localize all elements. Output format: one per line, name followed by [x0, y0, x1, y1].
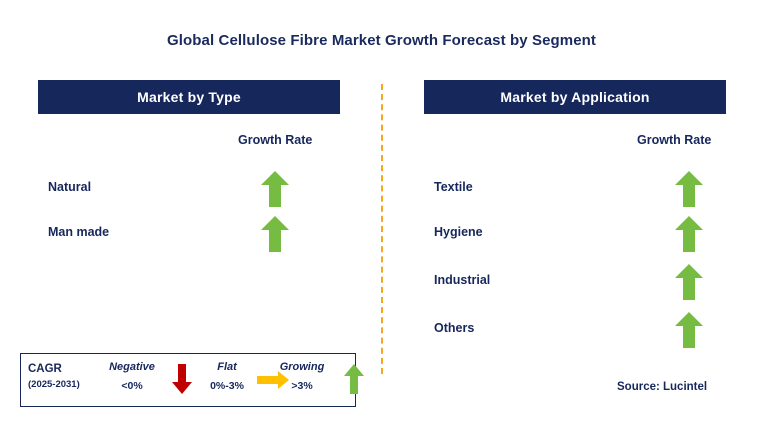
- infographic-canvas: Global Cellulose Fibre Market Growth For…: [0, 0, 763, 430]
- growth-rate-column-label-left: Growth Rate: [238, 133, 312, 147]
- up-arrow-icon: [674, 263, 704, 301]
- source-note: Source: Lucintel: [617, 381, 707, 393]
- legend-item-growing: Growing >3%: [269, 361, 335, 392]
- legend-cagr-label: CAGR (2025-2031): [28, 363, 96, 390]
- panel-header-label: Market by Type: [137, 89, 241, 105]
- segment-label: Industrial: [434, 273, 490, 287]
- legend-box: CAGR (2025-2031) Negative <0% Flat 0%-3%…: [20, 353, 356, 407]
- segment-label: Natural: [48, 180, 91, 194]
- growth-rate-column-label-right: Growth Rate: [637, 133, 711, 147]
- legend-cagr-period: (2025-2031): [28, 379, 96, 390]
- table-row: Others: [434, 311, 726, 351]
- page-title: Global Cellulose Fibre Market Growth For…: [0, 32, 763, 49]
- up-arrow-icon: [343, 363, 365, 400]
- table-row: Industrial: [434, 263, 726, 303]
- panel-header-label: Market by Application: [500, 89, 649, 105]
- legend-item-name: Growing: [269, 361, 335, 373]
- up-arrow-icon: [260, 170, 290, 208]
- legend-item-value: >3%: [269, 380, 335, 392]
- legend-item-value: <0%: [101, 380, 163, 392]
- legend-item-name: Negative: [101, 361, 163, 373]
- panel-header-market-by-application: Market by Application: [424, 80, 726, 114]
- legend-item-value: 0%-3%: [201, 380, 253, 392]
- legend-item-flat: Flat 0%-3%: [201, 361, 253, 392]
- table-row: Hygiene: [434, 215, 726, 255]
- up-arrow-icon: [674, 215, 704, 253]
- up-arrow-icon: [260, 215, 290, 253]
- up-arrow-icon: [674, 311, 704, 349]
- segment-label: Man made: [48, 225, 109, 239]
- table-row: Man made: [48, 215, 340, 255]
- up-arrow-icon: [674, 170, 704, 208]
- legend-item-negative: Negative <0%: [101, 361, 163, 392]
- table-row: Textile: [434, 170, 726, 210]
- down-arrow-icon: [171, 363, 193, 400]
- segment-label: Others: [434, 321, 474, 335]
- table-row: Natural: [48, 170, 340, 210]
- segment-label: Hygiene: [434, 225, 483, 239]
- legend-item-name: Flat: [201, 361, 253, 373]
- segment-label: Textile: [434, 180, 473, 194]
- legend-cagr-title: CAGR: [28, 363, 96, 375]
- panel-header-market-by-type: Market by Type: [38, 80, 340, 114]
- panel-divider: [381, 84, 383, 374]
